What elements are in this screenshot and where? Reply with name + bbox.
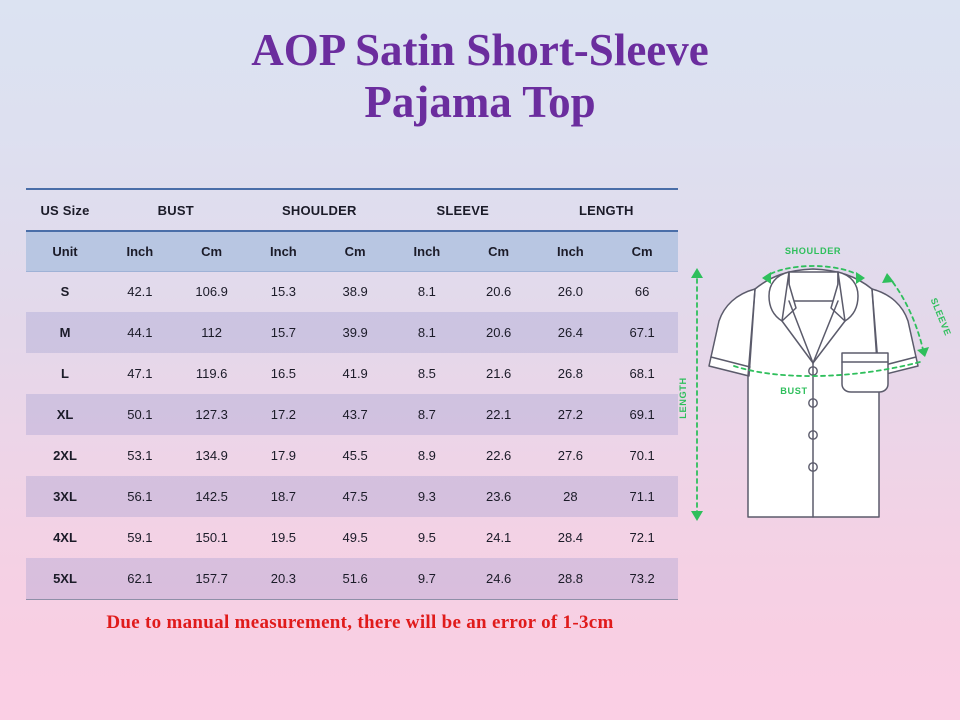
cell-bust_in: 53.1 (104, 435, 176, 476)
unit-length-cm: Cm (606, 231, 678, 271)
cell-shoulder_cm: 51.6 (319, 558, 391, 599)
cell-sleeve_cm: 22.6 (463, 435, 535, 476)
cell-shoulder_cm: 45.5 (319, 435, 391, 476)
page-title: AOP Satin Short-Sleeve Pajama Top (0, 24, 960, 128)
cell-sleeve_in: 9.3 (391, 476, 463, 517)
unit-bust-inch: Inch (104, 231, 176, 271)
cell-bust_cm: 106.9 (176, 271, 248, 312)
cell-shoulder_in: 17.2 (248, 394, 320, 435)
table-row: L47.1119.616.541.98.521.626.868.1 (26, 353, 678, 394)
cell-size: 3XL (26, 476, 104, 517)
cell-length_cm: 70.1 (606, 435, 678, 476)
cell-sleeve_cm: 23.6 (463, 476, 535, 517)
header-shoulder: SHOULDER (248, 189, 392, 231)
cell-bust_cm: 142.5 (176, 476, 248, 517)
cell-shoulder_in: 18.7 (248, 476, 320, 517)
sleeve-dimension-label: SLEEVE (929, 297, 953, 338)
cell-length_in: 26.8 (535, 353, 607, 394)
cell-shoulder_in: 20.3 (248, 558, 320, 599)
cell-shoulder_cm: 43.7 (319, 394, 391, 435)
cell-length_in: 26.0 (535, 271, 607, 312)
cell-length_cm: 71.1 (606, 476, 678, 517)
table-row: M44.111215.739.98.120.626.467.1 (26, 312, 678, 353)
cell-length_in: 27.6 (535, 435, 607, 476)
cell-shoulder_in: 19.5 (248, 517, 320, 558)
garment-illustration (709, 269, 918, 517)
header-us-size: US Size (26, 189, 104, 231)
cell-length_cm: 73.2 (606, 558, 678, 599)
unit-sleeve-cm: Cm (463, 231, 535, 271)
cell-size: 5XL (26, 558, 104, 599)
length-dimension-label: LENGTH (678, 377, 688, 418)
unit-bust-cm: Cm (176, 231, 248, 271)
cell-bust_cm: 134.9 (176, 435, 248, 476)
table-row: 2XL53.1134.917.945.58.922.627.670.1 (26, 435, 678, 476)
cell-length_in: 27.2 (535, 394, 607, 435)
unit-shoulder-cm: Cm (319, 231, 391, 271)
table-unit-header-row: Unit Inch Cm Inch Cm Inch Cm Inch Cm (26, 231, 678, 271)
cell-length_cm: 69.1 (606, 394, 678, 435)
cell-shoulder_cm: 47.5 (319, 476, 391, 517)
length-arrow-bottom (691, 511, 703, 521)
header-length: LENGTH (535, 189, 679, 231)
cell-bust_in: 50.1 (104, 394, 176, 435)
sleeve-arrow-top (882, 273, 894, 283)
cell-shoulder_cm: 38.9 (319, 271, 391, 312)
cell-bust_in: 47.1 (104, 353, 176, 394)
cell-bust_in: 59.1 (104, 517, 176, 558)
size-chart-table-body: S42.1106.915.338.98.120.626.066M44.11121… (26, 271, 678, 599)
measurement-disclaimer: Due to manual measurement, there will be… (0, 612, 720, 634)
table-row: 5XL62.1157.720.351.69.724.628.873.2 (26, 558, 678, 599)
cell-shoulder_in: 17.9 (248, 435, 320, 476)
cell-bust_cm: 157.7 (176, 558, 248, 599)
cell-bust_in: 56.1 (104, 476, 176, 517)
table-row: XL50.1127.317.243.78.722.127.269.1 (26, 394, 678, 435)
cell-bust_cm: 119.6 (176, 353, 248, 394)
cell-size: L (26, 353, 104, 394)
cell-shoulder_in: 15.7 (248, 312, 320, 353)
cell-length_in: 28.8 (535, 558, 607, 599)
page-title-line-2: Pajama Top (0, 76, 960, 128)
cell-length_cm: 68.1 (606, 353, 678, 394)
cell-bust_in: 42.1 (104, 271, 176, 312)
cell-size: XL (26, 394, 104, 435)
cell-sleeve_cm: 20.6 (463, 312, 535, 353)
cell-sleeve_in: 8.9 (391, 435, 463, 476)
cell-length_cm: 66 (606, 271, 678, 312)
cell-shoulder_in: 15.3 (248, 271, 320, 312)
unit-sleeve-inch: Inch (391, 231, 463, 271)
cell-sleeve_cm: 22.1 (463, 394, 535, 435)
cell-bust_in: 62.1 (104, 558, 176, 599)
shoulder-dimension-label: SHOULDER (785, 246, 841, 256)
cell-size: 2XL (26, 435, 104, 476)
header-bust: BUST (104, 189, 248, 231)
size-chart-table: US Size BUST SHOULDER SLEEVE LENGTH Unit… (26, 188, 678, 600)
cell-shoulder_in: 16.5 (248, 353, 320, 394)
cell-length_cm: 72.1 (606, 517, 678, 558)
unit-label: Unit (26, 231, 104, 271)
cell-size: M (26, 312, 104, 353)
cell-bust_cm: 112 (176, 312, 248, 353)
unit-length-inch: Inch (535, 231, 607, 271)
bust-dimension-label: BUST (780, 386, 807, 396)
back-neck-shape (789, 272, 838, 301)
cell-sleeve_in: 8.5 (391, 353, 463, 394)
page-title-line-1: AOP Satin Short-Sleeve (0, 24, 960, 76)
length-arrow-top (691, 268, 703, 278)
cell-length_cm: 67.1 (606, 312, 678, 353)
cell-size: S (26, 271, 104, 312)
cell-shoulder_cm: 41.9 (319, 353, 391, 394)
cell-sleeve_cm: 21.6 (463, 353, 535, 394)
table-row: 4XL59.1150.119.549.59.524.128.472.1 (26, 517, 678, 558)
table-row: 3XL56.1142.518.747.59.323.62871.1 (26, 476, 678, 517)
cell-length_in: 28 (535, 476, 607, 517)
cell-length_in: 28.4 (535, 517, 607, 558)
cell-bust_in: 44.1 (104, 312, 176, 353)
cell-shoulder_cm: 49.5 (319, 517, 391, 558)
cell-sleeve_in: 9.7 (391, 558, 463, 599)
sleeve-arrow-bottom (917, 347, 929, 357)
cell-length_in: 26.4 (535, 312, 607, 353)
cell-sleeve_in: 8.7 (391, 394, 463, 435)
garment-diagram: SHOULDER SLEEVE BUST LENGTH (676, 226, 960, 556)
cell-sleeve_cm: 24.1 (463, 517, 535, 558)
cell-sleeve_in: 8.1 (391, 312, 463, 353)
cell-shoulder_cm: 39.9 (319, 312, 391, 353)
size-chart-table-container: US Size BUST SHOULDER SLEEVE LENGTH Unit… (26, 188, 678, 600)
cell-sleeve_in: 8.1 (391, 271, 463, 312)
cell-size: 4XL (26, 517, 104, 558)
cell-bust_cm: 127.3 (176, 394, 248, 435)
cell-bust_cm: 150.1 (176, 517, 248, 558)
header-sleeve: SLEEVE (391, 189, 535, 231)
unit-shoulder-inch: Inch (248, 231, 320, 271)
cell-sleeve_in: 9.5 (391, 517, 463, 558)
table-group-header-row: US Size BUST SHOULDER SLEEVE LENGTH (26, 189, 678, 231)
table-row: S42.1106.915.338.98.120.626.066 (26, 271, 678, 312)
cell-sleeve_cm: 20.6 (463, 271, 535, 312)
cell-sleeve_cm: 24.6 (463, 558, 535, 599)
